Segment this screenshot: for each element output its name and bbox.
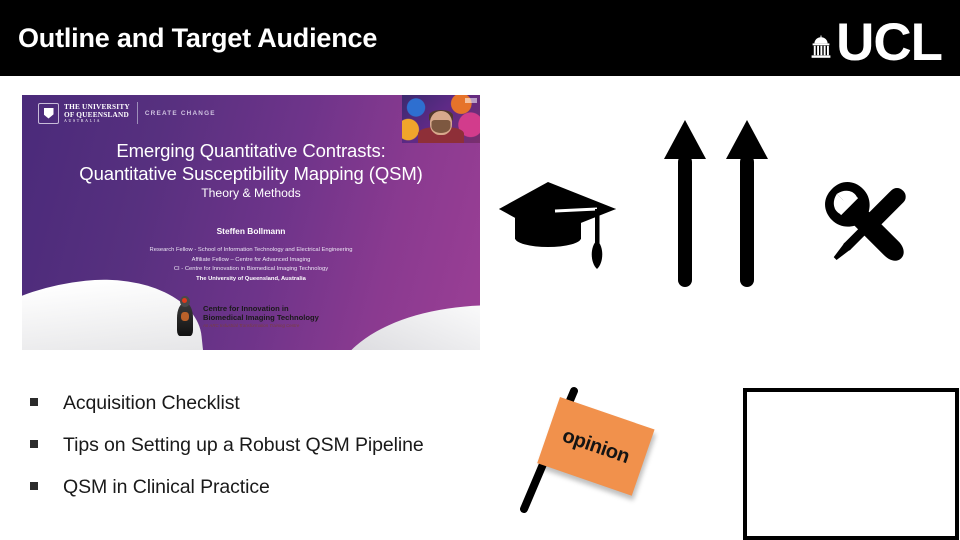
flag-label: opinion xyxy=(559,424,632,468)
list-item: QSM in Clinical Practice xyxy=(30,476,480,499)
cibit-line-2: Biomedical Imaging Technology xyxy=(203,313,319,322)
affiliation-line: Research Fellow - School of Information … xyxy=(22,246,480,256)
placeholder-box[interactable] xyxy=(743,388,959,540)
ucl-wordmark: UCL xyxy=(836,21,942,66)
slide-subtitle: Theory & Methods xyxy=(22,186,480,200)
square-bullet-icon xyxy=(30,398,38,406)
presenter-webcam-inset xyxy=(402,95,480,143)
list-item: Acquisition Checklist xyxy=(30,392,480,415)
cibit-line-3: An ARC Industrial Transformation Trainin… xyxy=(203,323,319,328)
slide-affiliations: Research Fellow - School of Information … xyxy=(22,246,480,285)
human-body-icon xyxy=(174,296,196,336)
ucl-portico-icon xyxy=(808,34,834,60)
embedded-slide-thumbnail[interactable]: THE UNIVERSITY OF QUEENSLAND AUSTRALIA C… xyxy=(22,95,480,350)
uq-line-3: AUSTRALIA xyxy=(64,119,130,123)
double-up-arrow-icon xyxy=(663,113,771,295)
affiliation-line: CI - Centre for Innovation in Biomedical… xyxy=(22,265,480,275)
affiliation-line: The University of Queensland, Australia xyxy=(22,275,480,285)
header-bar: Outline and Target Audience UCL xyxy=(0,0,960,76)
slide-swoosh-right xyxy=(332,294,480,350)
page-title: Outline and Target Audience xyxy=(18,23,377,54)
uq-crest-icon xyxy=(38,103,59,124)
slide-title-line-2: Quantitative Susceptibility Mapping (QSM… xyxy=(22,162,480,185)
wrench-screwdriver-icon xyxy=(816,172,920,278)
ucl-logo: UCL xyxy=(808,16,942,66)
list-item-label: Tips on Setting up a Robust QSM Pipeline xyxy=(63,434,424,457)
list-item: Tips on Setting up a Robust QSM Pipeline xyxy=(30,434,480,457)
cibit-logo: Centre for Innovation in Biomedical Imag… xyxy=(174,296,319,336)
uq-logo-divider xyxy=(137,102,138,124)
list-item-label: QSM in Clinical Practice xyxy=(63,476,270,499)
outline-bullet-list: Acquisition Checklist Tips on Setting up… xyxy=(30,392,480,518)
list-item-label: Acquisition Checklist xyxy=(63,392,240,415)
slide-title-line-1: Emerging Quantitative Contrasts: xyxy=(22,139,480,162)
graduation-cap-icon xyxy=(497,176,619,274)
slide-author: Steffen Bollmann xyxy=(22,226,480,236)
slide-title: Emerging Quantitative Contrasts: Quantit… xyxy=(22,139,480,186)
opinion-flag: opinion xyxy=(512,385,664,515)
uq-tagline: CREATE CHANGE xyxy=(145,110,216,117)
cibit-line-1: Centre for Innovation in xyxy=(203,304,319,313)
square-bullet-icon xyxy=(30,482,38,490)
uq-logo: THE UNIVERSITY OF QUEENSLAND AUSTRALIA C… xyxy=(38,102,216,124)
square-bullet-icon xyxy=(30,440,38,448)
uq-logo-text: THE UNIVERSITY OF QUEENSLAND AUSTRALIA xyxy=(64,103,130,123)
affiliation-line: Affiliate Fellow – Centre for Advanced I… xyxy=(22,256,480,266)
